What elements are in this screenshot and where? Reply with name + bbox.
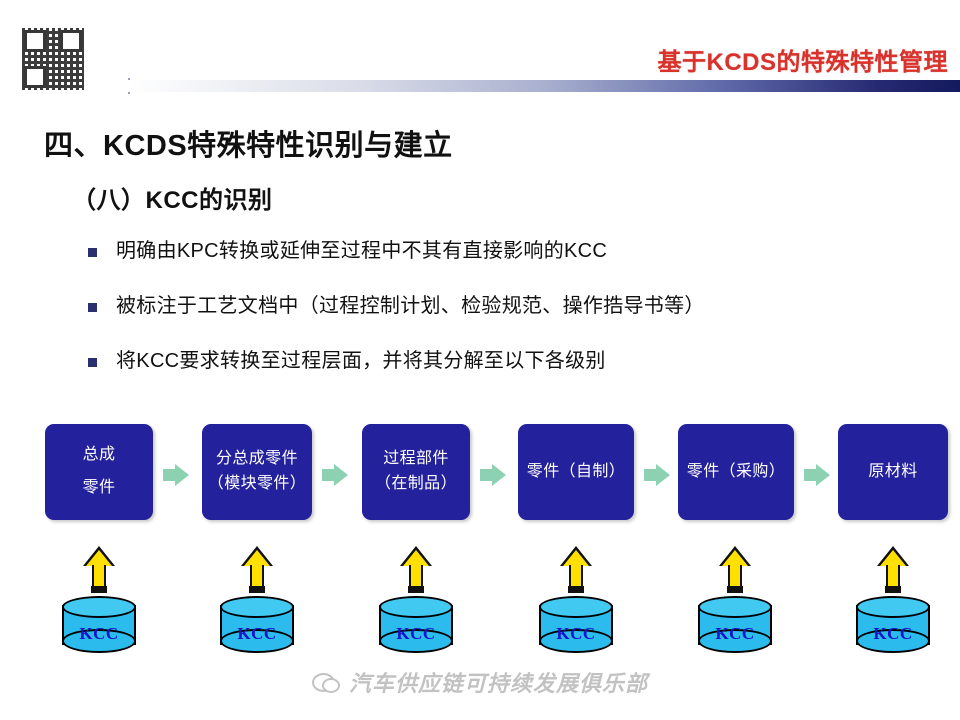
flow-box-process-component: 过程部件 （在制品） — [362, 424, 470, 520]
square-bullet-icon — [88, 248, 97, 257]
flow-box-line: 零件 — [83, 472, 116, 505]
arrow-head-fill — [563, 550, 589, 566]
arrow-shaft — [92, 565, 106, 587]
qr-code-icon — [22, 28, 84, 90]
flow-box-line: （模块零件） — [208, 472, 306, 497]
arrow-head-fill — [86, 550, 112, 566]
flow-arrow-right-icon — [322, 464, 348, 486]
flow-box-line: 零件（采购） — [687, 460, 785, 485]
wechat-bubble-small — [322, 678, 340, 693]
flow-box-raw-material: 原材料 — [838, 424, 948, 520]
up-arrow-icon — [719, 546, 751, 594]
database-cylinder-icon: KCC — [539, 596, 613, 654]
bullet-list: 明确由KPC转换或延伸至过程中不其有直接影响的KCC 被标注于工艺文档中（过程控… — [88, 236, 908, 401]
database-cylinder-icon: KCC — [379, 596, 453, 654]
flow-box-part-inhouse: 零件（自制） — [518, 424, 634, 520]
flow-arrow-right-icon — [480, 464, 506, 486]
list-item: 被标注于工艺文档中（过程控制计划、检验规范、操作捁导书等） — [88, 291, 908, 321]
up-arrow-icon — [400, 546, 432, 594]
list-item-text: 将KCC要求转换至过程层面，并将其分解至以下各级别 — [116, 346, 606, 376]
footer-text: 汽车供应链可持续发展俱乐部 — [349, 666, 648, 698]
flow-box-part-purchased: 零件（采购） — [678, 424, 794, 520]
arrow-shaft — [728, 565, 742, 587]
flow-arrow-right-icon — [163, 464, 189, 486]
qr-alignment-mark — [24, 66, 46, 88]
database-cylinder-icon: KCC — [856, 596, 930, 654]
kcc-label: KCC — [62, 624, 136, 644]
cylinder-top — [62, 596, 136, 618]
footer-watermark: 汽车供应链可持续发展俱乐部 — [0, 666, 960, 698]
kcc-label: KCC — [539, 624, 613, 644]
arrow-base — [408, 586, 424, 593]
arrow-head — [175, 464, 189, 486]
arrow-base — [91, 586, 107, 593]
square-bullet-icon — [88, 358, 97, 367]
cylinder-top — [220, 596, 294, 618]
up-arrow-icon — [877, 546, 909, 594]
kcc-label: KCC — [379, 624, 453, 644]
cylinder-top — [539, 596, 613, 618]
flow-arrow-right-icon — [644, 464, 670, 486]
flow-box-sub-assembly-part: 分总成零件 （模块零件） — [202, 424, 312, 520]
up-arrow-icon — [241, 546, 273, 594]
flow-box-line: 过程部件 — [383, 447, 449, 472]
database-cylinder-icon: KCC — [698, 596, 772, 654]
arrow-head — [492, 464, 506, 486]
arrow-base — [885, 586, 901, 593]
kcc-label: KCC — [698, 624, 772, 644]
kcc-label: KCC — [220, 624, 294, 644]
arrow-shaft — [409, 565, 423, 587]
page-subtitle: （八）KCC的识别 — [72, 180, 273, 215]
arrow-base — [727, 586, 743, 593]
arrow-head-fill — [722, 550, 748, 566]
square-bullet-icon — [88, 303, 97, 312]
arrow-head — [334, 464, 348, 486]
list-item: 明确由KPC转换或延伸至过程中不其有直接影响的KCC — [88, 236, 908, 266]
arrow-head — [816, 464, 830, 486]
list-item-text: 明确由KPC转换或延伸至过程中不其有直接影响的KCC — [116, 236, 607, 266]
cylinder-top — [698, 596, 772, 618]
page-title: 四、KCDS特殊特性识别与建立 — [44, 122, 453, 164]
wechat-icon — [312, 672, 340, 693]
arrow-shaft — [250, 565, 264, 587]
up-arrow-icon — [83, 546, 115, 594]
slide-header: 基于KCDS的特殊特性管理 — [0, 0, 960, 108]
header-title: 基于KCDS的特殊特性管理 — [657, 42, 948, 77]
kcc-label: KCC — [856, 624, 930, 644]
flow-box-line: 分总成零件 — [216, 447, 298, 472]
flow-box-line: 总成 — [83, 439, 116, 472]
arrow-base — [249, 586, 265, 593]
arrow-head-fill — [880, 550, 906, 566]
arrow-shaft — [886, 565, 900, 587]
arrow-head — [656, 464, 670, 486]
arrow-base — [568, 586, 584, 593]
header-gradient-rule — [128, 80, 960, 92]
database-cylinder-icon: KCC — [220, 596, 294, 654]
flow-diagram: 总成 零件 分总成零件 （模块零件） 过程部件 （在制品） 零件（自制） 零件（… — [0, 424, 960, 532]
flow-box-assembly-part: 总成 零件 — [45, 424, 153, 520]
cylinder-top — [379, 596, 453, 618]
list-item: 将KCC要求转换至过程层面，并将其分解至以下各级别 — [88, 346, 908, 376]
list-item-text: 被标注于工艺文档中（过程控制计划、检验规范、操作捁导书等） — [116, 291, 705, 321]
flow-box-line: （在制品） — [375, 472, 457, 497]
up-arrow-icon — [560, 546, 592, 594]
cylinder-top — [856, 596, 930, 618]
arrow-shaft — [569, 565, 583, 587]
arrow-head-fill — [403, 550, 429, 566]
flow-box-line: 原材料 — [868, 460, 917, 485]
flow-arrow-right-icon — [804, 464, 830, 486]
flow-box-line: 零件（自制） — [527, 460, 625, 485]
arrow-head-fill — [244, 550, 270, 566]
database-cylinder-icon: KCC — [62, 596, 136, 654]
